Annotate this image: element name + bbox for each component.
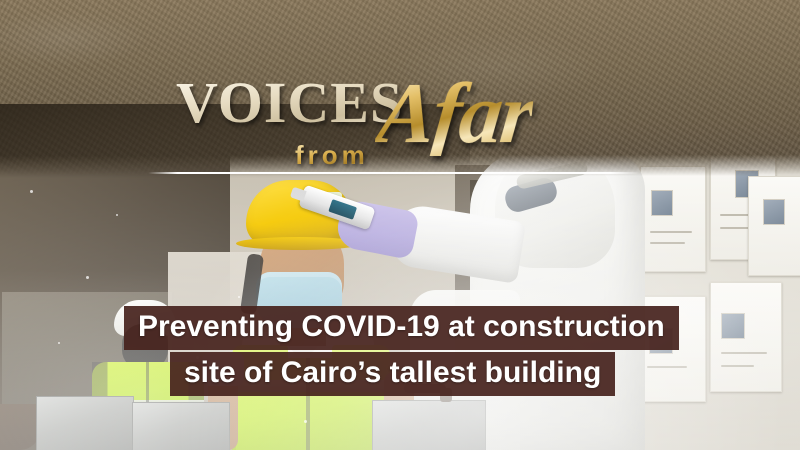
program-logo: Voices from Afar (0, 62, 660, 182)
headline-line-1: Preventing COVID-19 at construction (124, 306, 679, 350)
wash-basin (372, 400, 486, 450)
logo-voices-text: Voices (176, 74, 403, 132)
wash-basin (36, 396, 134, 450)
headline-line-2: site of Cairo’s tallest building (170, 352, 615, 396)
video-thumbnail: Voices from Afar Preventing COVID-19 at … (0, 0, 800, 450)
document-sheet (748, 176, 800, 276)
wash-basin (132, 402, 230, 450)
headline-banner: Preventing COVID-19 at construction site… (0, 306, 800, 396)
logo-afar-script-text: Afar (373, 70, 537, 156)
basin-leftmost (0, 404, 40, 450)
logo-from-text: from (295, 140, 369, 171)
logo-divider-rule (148, 172, 640, 174)
thermometer-display (328, 199, 357, 220)
